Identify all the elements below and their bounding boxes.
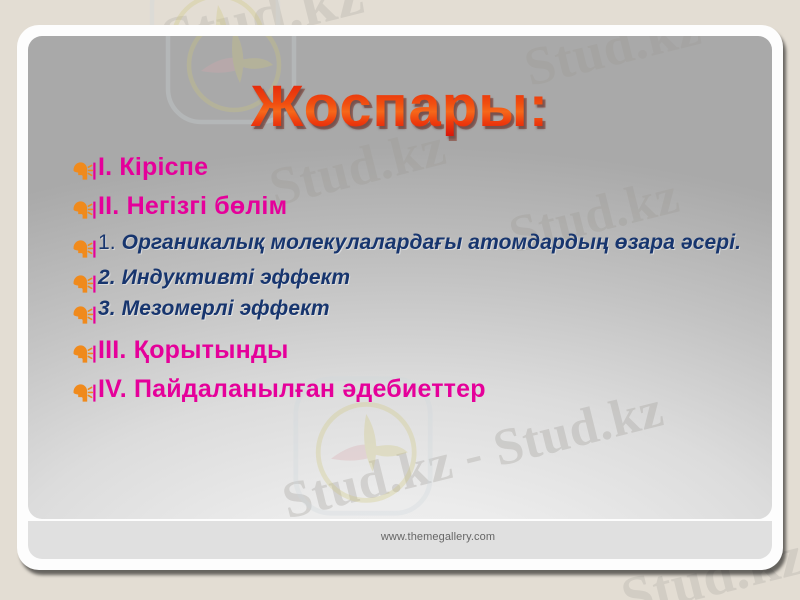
slide-footer: www.themegallery.com	[28, 521, 772, 559]
slide-card: Stud.kz Stud.kz Stud.kz - Stud.kz Stud.k…	[17, 25, 783, 570]
list-item-label: 1. Органикалық молекулалардағы атомдарды…	[98, 231, 760, 256]
list-item-label: III. Қорытынды	[98, 336, 760, 366]
list-item[interactable]: II. Негізгі бөлім	[70, 192, 760, 222]
list-item-label: I. Кіріспе	[98, 153, 760, 183]
list-item[interactable]: 3. Мезомерлі эффект	[70, 297, 760, 327]
speaking-head-bullet-icon	[70, 198, 96, 222]
list-item-text: Органикалық молекулалардағы атомдардың ө…	[122, 231, 741, 254]
speaking-head-bullet-icon	[70, 159, 96, 183]
slide-content-panel: Stud.kz Stud.kz Stud.kz - Stud.kz Stud.k…	[28, 36, 772, 519]
list-item-label: II. Негізгі бөлім	[98, 192, 760, 222]
speaking-head-bullet-icon	[70, 381, 96, 405]
footer-website-link[interactable]: www.themegallery.com	[28, 531, 772, 543]
speaking-head-bullet-icon	[70, 272, 96, 296]
list-item[interactable]: I. Кіріспе	[70, 153, 760, 183]
list-item-label: 3. Мезомерлі эффект	[98, 297, 760, 322]
list-item-number: 1.	[98, 231, 116, 254]
speaking-head-bullet-icon	[70, 303, 96, 327]
slide-root: Stud.kz Stud.kz Stud.kz Stud.kz Stud.kz …	[0, 0, 800, 600]
list-item[interactable]: IV. Пайдаланылған әдебиеттер	[70, 375, 760, 405]
speaking-head-bullet-icon	[70, 237, 96, 261]
list-item[interactable]: 2. Индуктивті эффект	[70, 266, 760, 296]
page-title: Жоспары:	[28, 78, 772, 136]
list-item[interactable]: III. Қорытынды	[70, 336, 760, 366]
bullet-list: I. Кіріспе II. Негізгі бөлім	[70, 153, 760, 407]
list-item-label: 2. Индуктивті эффект	[98, 266, 760, 291]
speaking-head-bullet-icon	[70, 342, 96, 366]
list-item[interactable]: 1. Органикалық молекулалардағы атомдарды…	[70, 231, 760, 261]
list-item-label: IV. Пайдаланылған әдебиеттер	[98, 375, 760, 405]
